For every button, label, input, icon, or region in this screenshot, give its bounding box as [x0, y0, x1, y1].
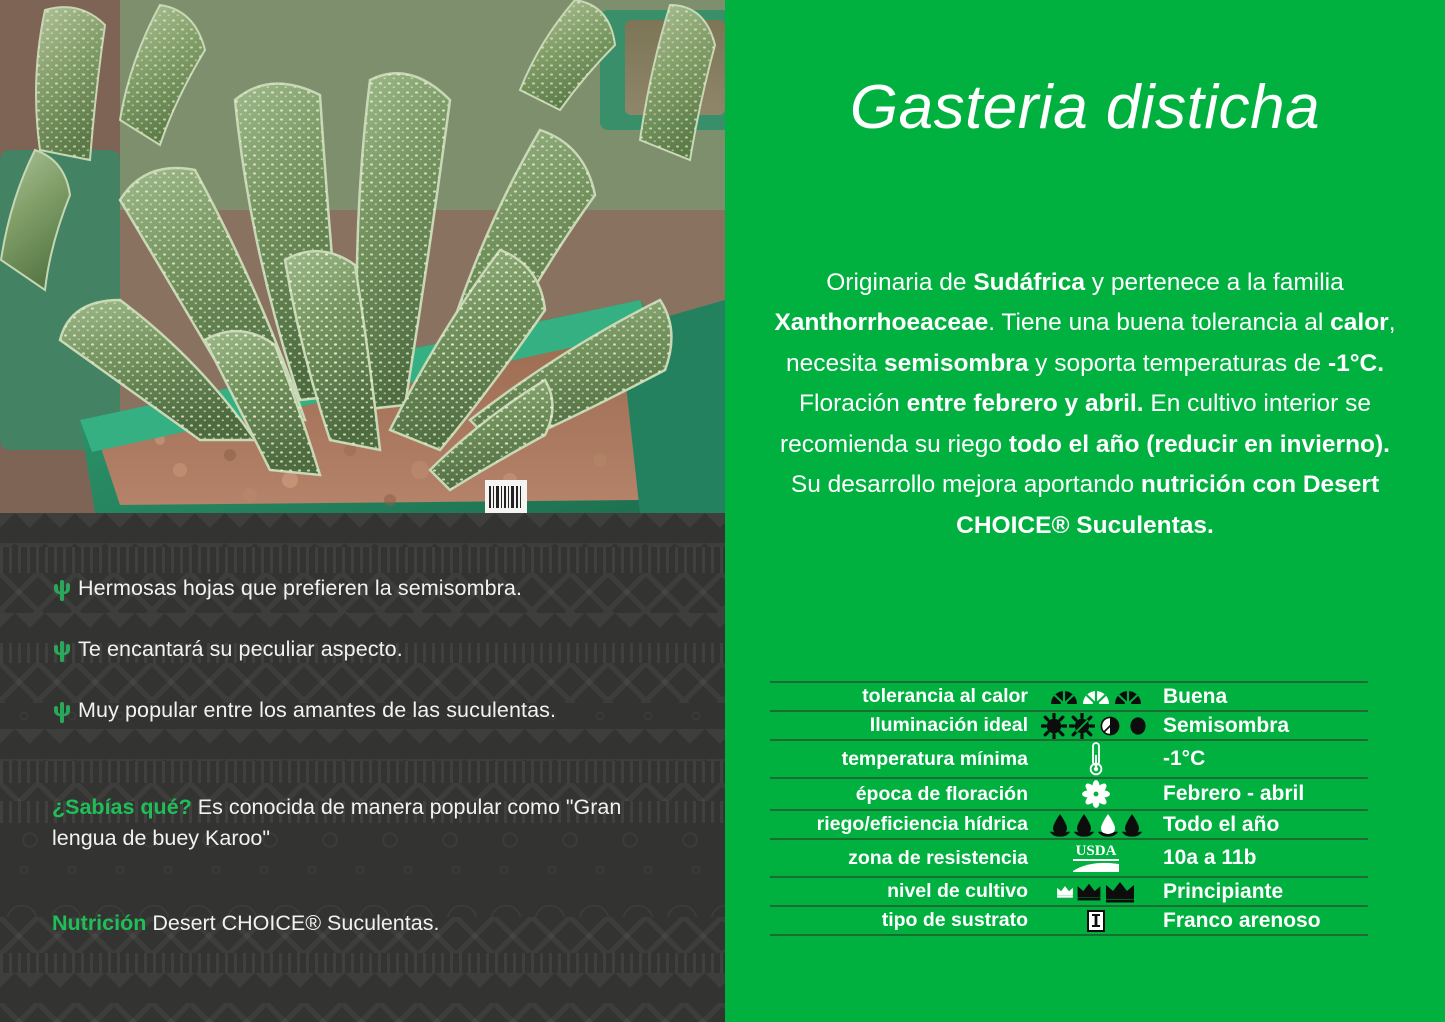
description-text: Su desarrollo mejora aportando	[791, 471, 1141, 498]
nutrition-label: Nutrición	[52, 911, 146, 935]
description-text: . Tiene una buena tolerancia al	[988, 309, 1330, 336]
spec-value: Franco arenoso	[1163, 906, 1368, 935]
table-row: temperatura mínima-1°C	[770, 740, 1368, 778]
crown-icon	[1056, 885, 1074, 898]
spec-table: tolerancia al calorBuenaIluminación idea…	[770, 681, 1368, 936]
spec-icons	[1028, 810, 1163, 839]
description-emphasis: Sudáfrica	[973, 269, 1085, 296]
description-text: Floración	[799, 390, 907, 417]
sun-shade-icon	[1041, 713, 1067, 739]
heat-gauge-icon	[1049, 687, 1079, 706]
spec-value: 10a a 11b	[1163, 839, 1368, 877]
sun-shade-icon	[1125, 713, 1151, 739]
did-you-know-text: ¿Sabías qué? Es conocida de manera popul…	[52, 792, 672, 854]
spec-label: Iluminación ideal	[770, 711, 1028, 740]
list-item: Hermosas hojas que prefieren la semisomb…	[52, 575, 725, 602]
nutrition-body: Desert CHOICE® Suculentas.	[146, 911, 439, 935]
list-item-label: Hermosas hojas que prefieren la semisomb…	[78, 575, 522, 602]
cactus-icon	[52, 699, 74, 723]
plant-info-card: Hermosas hojas que prefieren la semisomb…	[0, 0, 1445, 1022]
spec-value: Febrero - abril	[1163, 778, 1368, 810]
description-emphasis: -1°C.	[1328, 350, 1384, 377]
list-item: Te encantará su peculiar aspecto.	[52, 636, 725, 663]
spec-icons	[1028, 711, 1163, 740]
crown-icon	[1076, 882, 1102, 901]
spec-label: riego/eficiencia hídrica	[770, 810, 1028, 839]
spec-icons	[1028, 682, 1163, 711]
heat-gauge-icon	[1081, 687, 1111, 706]
table-row: Iluminación idealSemisombra	[770, 711, 1368, 740]
left-column: Hermosas hojas que prefieren la semisomb…	[0, 0, 725, 1022]
description-emphasis: entre febrero y abril.	[907, 390, 1144, 417]
right-column: Gasteria disticha Originaria de Sudáfric…	[725, 0, 1445, 1022]
spec-value: Todo el año	[1163, 810, 1368, 839]
heat-gauge-icon	[1113, 687, 1143, 706]
description-emphasis: Xanthorrhoeaceae	[774, 309, 988, 336]
cactus-icon	[52, 638, 74, 662]
spec-icons	[1028, 877, 1163, 906]
spec-label: temperatura mínima	[770, 740, 1028, 778]
spec-value: Principiante	[1163, 877, 1368, 906]
list-item-label: Te encantará su peculiar aspecto.	[78, 636, 403, 663]
description-emphasis: semisombra	[884, 350, 1028, 377]
spec-value: Buena	[1163, 682, 1368, 711]
table-row: tolerancia al calorBuena	[770, 682, 1368, 711]
table-row: zona de resistenciaUSDA10a a 11b	[770, 839, 1368, 877]
table-row: época de floraciónFebrero - abril	[770, 778, 1368, 810]
spec-value: Semisombra	[1163, 711, 1368, 740]
water-drop-icon	[1097, 813, 1119, 837]
plant-description: Originaria de Sudáfrica y pertenece a la…	[725, 143, 1445, 546]
soil-pot-icon	[1085, 908, 1107, 934]
table-row: nivel de cultivoPrincipiante	[770, 877, 1368, 906]
dark-info-panel: Hermosas hojas que prefieren la semisomb…	[0, 513, 725, 1022]
table-row: tipo de sustratoFranco arenoso	[770, 906, 1368, 935]
svg-text:USDA: USDA	[1075, 843, 1116, 859]
spec-icons: USDA	[1028, 839, 1163, 877]
water-drop-icon	[1073, 813, 1095, 837]
spec-label: tipo de sustrato	[770, 906, 1028, 935]
spec-table-body: tolerancia al calorBuenaIluminación idea…	[770, 682, 1368, 935]
sun-shade-icon	[1069, 713, 1095, 739]
spec-icons	[1028, 740, 1163, 778]
description-emphasis: calor	[1330, 309, 1389, 336]
spec-icons	[1028, 778, 1163, 810]
spec-label: tolerancia al calor	[770, 682, 1028, 711]
flower-icon	[1081, 779, 1111, 809]
list-item: Muy popular entre los amantes de las suc…	[52, 697, 725, 724]
cactus-icon	[52, 577, 74, 601]
description-emphasis: todo el año (reducir en invierno).	[1009, 431, 1390, 458]
description-text: y soporta temperaturas de	[1028, 350, 1328, 377]
description-text: Originaria de	[826, 269, 973, 296]
water-drop-icon	[1049, 813, 1071, 837]
spec-label: zona de resistencia	[770, 839, 1028, 877]
crown-icon	[1104, 880, 1136, 903]
thermometer-icon	[1088, 741, 1104, 777]
spec-label: nivel de cultivo	[770, 877, 1028, 906]
spec-icons	[1028, 906, 1163, 935]
table-row: riego/eficiencia hídricaTodo el año	[770, 810, 1368, 839]
usda-logo-icon: USDA	[1069, 840, 1123, 876]
plant-photo	[0, 0, 725, 513]
did-you-know-label: ¿Sabías qué?	[52, 795, 192, 819]
spec-label: época de floración	[770, 778, 1028, 810]
spec-value: -1°C	[1163, 740, 1368, 778]
list-item-label: Muy popular entre los amantes de las suc…	[78, 697, 556, 724]
nutrition-text: Nutrición Desert CHOICE® Suculentas.	[52, 910, 725, 938]
sun-shade-icon	[1097, 713, 1123, 739]
page-title: Gasteria disticha	[725, 0, 1445, 143]
water-drop-icon	[1121, 813, 1143, 837]
description-text: y pertenece a la familia	[1085, 269, 1344, 296]
